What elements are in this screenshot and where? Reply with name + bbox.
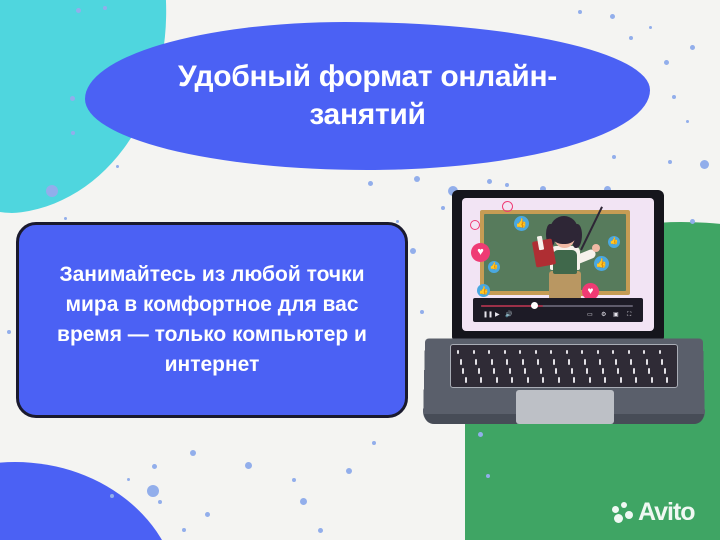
background-dot	[76, 8, 81, 13]
background-dot	[486, 474, 490, 478]
volume-icon[interactable]: 🔊	[505, 312, 512, 318]
keyboard-key	[615, 359, 617, 365]
background-dot	[396, 220, 399, 223]
background-dot	[610, 14, 615, 19]
book-icon	[532, 238, 556, 267]
background-dot	[46, 185, 58, 197]
keyboard-key	[573, 377, 575, 383]
keyboard-key	[480, 377, 482, 383]
keyboard-key	[568, 359, 570, 365]
keyboard-key	[475, 359, 477, 365]
keyboard-key	[581, 350, 583, 354]
background-dot	[71, 131, 75, 135]
keyboard-key	[635, 377, 637, 383]
background-dot	[414, 176, 420, 182]
keyboard-key	[488, 350, 490, 354]
background-dot	[372, 441, 376, 445]
thumbs-up-icon: 👍	[488, 261, 500, 273]
fullscreen-icon[interactable]: ⛶	[627, 312, 631, 318]
promo-banner: Удобный формат онлайн-занятий Занимайтес…	[0, 0, 720, 540]
blue-blob-decoration	[0, 462, 180, 540]
keyboard-key	[646, 359, 648, 365]
keyboard-key	[478, 368, 480, 374]
keyboard-key	[661, 359, 663, 365]
thumbs-up-icon: 👍	[594, 256, 609, 271]
keyboard-key	[555, 368, 557, 374]
laptop-screen: 👍♥👍👍👍👍♥ ❚❚ ▶ 🔊 ▭ ⚙ ▣ ⛶	[462, 198, 654, 331]
thumbs-up-icon: 👍	[608, 236, 620, 248]
keyboard-key	[599, 359, 601, 365]
keyboard-key	[542, 377, 544, 383]
keyboard-key	[504, 350, 506, 354]
pip-icon[interactable]: ▣	[613, 312, 619, 318]
keyboard-key	[602, 368, 604, 374]
keyboard-key	[465, 377, 467, 383]
keyboard-key	[519, 350, 521, 354]
keyboard-key	[651, 377, 653, 383]
thumbs-up-icon: 👍	[477, 284, 490, 297]
keyboard-key	[509, 368, 511, 374]
keyboard-key	[597, 350, 599, 354]
keyboard-key	[506, 359, 508, 365]
background-dot	[612, 155, 616, 159]
background-dot	[182, 528, 186, 532]
background-dot	[7, 330, 11, 334]
keyboard-key	[617, 368, 619, 374]
keyboard-key	[524, 368, 526, 374]
keyboard-key	[535, 350, 537, 354]
keyboard-key	[491, 359, 493, 365]
keyboard-key	[584, 359, 586, 365]
thumbs-up-icon: 👍	[514, 216, 529, 231]
background-dot	[245, 462, 252, 469]
keyboard-key	[620, 377, 622, 383]
pause-icon[interactable]: ❚❚	[483, 312, 493, 318]
heart-outline-icon	[470, 220, 480, 230]
keyboard-key	[643, 350, 645, 354]
background-dot	[152, 464, 157, 469]
heart-icon: ♥	[471, 243, 490, 262]
background-dot	[190, 450, 196, 456]
keyboard-key	[522, 359, 524, 365]
background-dot	[318, 528, 323, 533]
laptop-illustration: 👍♥👍👍👍👍♥ ❚❚ ▶ 🔊 ▭ ⚙ ▣ ⛶	[424, 190, 704, 452]
video-progress-handle[interactable]	[531, 302, 538, 309]
keyboard-key	[628, 350, 630, 354]
description-card: Занимайтесь из любой точки мира в комфор…	[16, 222, 408, 418]
background-dot	[578, 10, 582, 14]
headline-blob: Удобный формат онлайн-занятий	[85, 22, 650, 170]
keyboard-key	[589, 377, 591, 383]
avito-watermark: Avito	[612, 500, 695, 525]
background-dot	[300, 498, 307, 505]
teacher-vest	[553, 250, 577, 274]
background-dot	[505, 183, 509, 187]
keyboard-key	[566, 350, 568, 354]
background-dot	[629, 36, 633, 40]
background-dot	[410, 248, 416, 254]
laptop-keyboard	[450, 344, 678, 388]
keyboard-key	[473, 350, 475, 354]
background-dot	[346, 468, 352, 474]
background-dot	[147, 485, 159, 497]
background-dot	[368, 181, 373, 186]
keyboard-key	[586, 368, 588, 374]
keyboard-key	[612, 350, 614, 354]
keyboard-key	[496, 377, 498, 383]
background-dot	[664, 60, 669, 65]
keyboard-key	[460, 359, 462, 365]
background-dot	[672, 95, 676, 99]
keyboard-key	[553, 359, 555, 365]
video-progress-bar[interactable]	[481, 305, 633, 307]
keyboard-key	[664, 368, 666, 374]
keyboard-key	[537, 359, 539, 365]
laptop-trackpad	[516, 390, 614, 424]
background-dot	[668, 160, 672, 164]
video-player-controls[interactable]: ❚❚ ▶ 🔊 ▭ ⚙ ▣ ⛶	[473, 298, 643, 322]
background-dot	[649, 26, 652, 29]
settings-icon[interactable]: ⚙	[601, 312, 606, 318]
background-dot	[205, 512, 210, 517]
background-dot	[127, 478, 130, 481]
keyboard-key	[540, 368, 542, 374]
background-dot	[70, 96, 75, 101]
keyboard-key	[511, 377, 513, 383]
description-text: Занимайтесь из любой точки мира в комфор…	[36, 260, 388, 380]
background-dot	[686, 120, 689, 123]
keyboard-key	[527, 377, 529, 383]
keyboard-key	[457, 350, 459, 354]
keyboard-key	[633, 368, 635, 374]
keyboard-key	[604, 377, 606, 383]
play-icon[interactable]: ▶	[495, 312, 500, 318]
page-title: Удобный формат онлайн-занятий	[133, 58, 603, 135]
teacher-right-hand	[592, 244, 600, 252]
background-dot	[103, 6, 107, 10]
heart-outline-icon	[502, 201, 513, 212]
background-dot	[292, 478, 296, 482]
keyboard-key	[493, 368, 495, 374]
keyboard-key	[558, 377, 560, 383]
keyboard-key	[648, 368, 650, 374]
avito-dots-icon	[612, 502, 634, 524]
keyboard-key	[550, 350, 552, 354]
keyboard-key	[666, 377, 668, 383]
background-dot	[700, 160, 709, 169]
background-dot	[110, 494, 114, 498]
keyboard-key	[659, 350, 661, 354]
background-dot	[116, 165, 119, 168]
background-dot	[690, 45, 695, 50]
background-dot	[64, 217, 67, 220]
keyboard-key	[571, 368, 573, 374]
book-page	[537, 236, 544, 251]
subtitles-icon[interactable]: ▭	[587, 312, 593, 318]
keyboard-key	[630, 359, 632, 365]
background-dot	[487, 179, 492, 184]
avito-brand-text: Avito	[638, 500, 695, 525]
background-dot	[158, 500, 162, 504]
keyboard-key	[462, 368, 464, 374]
teacher-hair	[550, 216, 578, 244]
